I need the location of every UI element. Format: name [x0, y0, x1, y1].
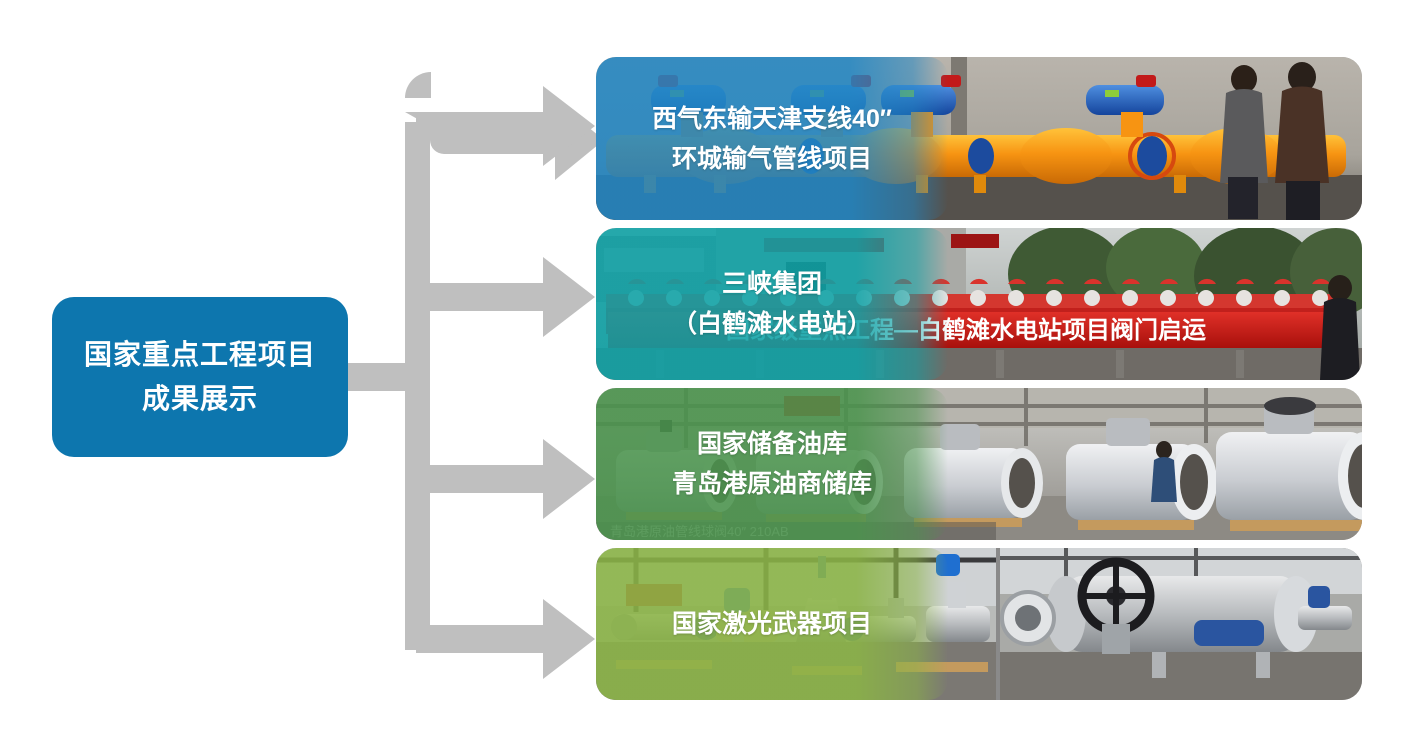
- branch-2-line2: （白鹤滩水电站）: [672, 310, 872, 338]
- branch-overlay-4: 国家激光武器项目: [596, 548, 948, 700]
- root-label-line1: 国家重点工程项目: [84, 339, 316, 370]
- connector-stem: [348, 363, 410, 391]
- branch-3-line2: 青岛港原油商储库: [672, 470, 872, 498]
- connector-arrow-row-3: [416, 439, 595, 519]
- branch-label-1: 西气东输天津支线40″ 环城输气管线项目: [642, 99, 902, 179]
- branch-card-4[interactable]: 国家激光武器项目: [596, 548, 1362, 700]
- connector-trunk: [405, 122, 430, 650]
- branch-card-1[interactable]: 西气东输天津支线40″ 环城输气管线项目: [596, 57, 1362, 220]
- connector-arrow-row-2: [416, 257, 595, 337]
- branch-label-3: 国家储备油库 青岛港原油商储库: [662, 424, 882, 504]
- root-label-line2: 成果展示: [142, 383, 258, 414]
- diagram-canvas: 国家重点工程项目 成果展示: [0, 0, 1428, 738]
- branch-overlay-1: 西气东输天津支线40″ 环城输气管线项目: [596, 57, 948, 220]
- branch-card-2[interactable]: 国家级重点工程—白鹤滩水电站项目阀门启运 三峡集团 （白鹤滩水电站）: [596, 228, 1362, 380]
- branch-label-4: 国家激光武器项目: [662, 604, 882, 644]
- branch-label-2: 三峡集团 （白鹤滩水电站）: [662, 264, 882, 344]
- branch-4-line1: 国家激光武器项目: [672, 610, 872, 638]
- branch-card-3[interactable]: 青岛港原油管线球阀40″ 210AB 国家储备油库 青岛港原油商储库: [596, 388, 1362, 540]
- branch-overlay-3: 国家储备油库 青岛港原油商储库: [596, 388, 948, 540]
- branch-2-line1: 三峡集团: [722, 270, 822, 298]
- connector-arrow-row-4: [416, 599, 595, 679]
- branch-1-line2: 环城输气管线项目: [672, 145, 872, 173]
- root-node-label: 国家重点工程项目 成果展示: [84, 333, 316, 421]
- branch-overlay-2: 三峡集团 （白鹤滩水电站）: [596, 228, 948, 380]
- connector-joint-top: [405, 72, 431, 98]
- root-node[interactable]: 国家重点工程项目 成果展示: [52, 297, 348, 457]
- branch-1-line1: 西气东输天津支线40″: [652, 105, 892, 133]
- branch-3-line1: 国家储备油库: [697, 430, 847, 458]
